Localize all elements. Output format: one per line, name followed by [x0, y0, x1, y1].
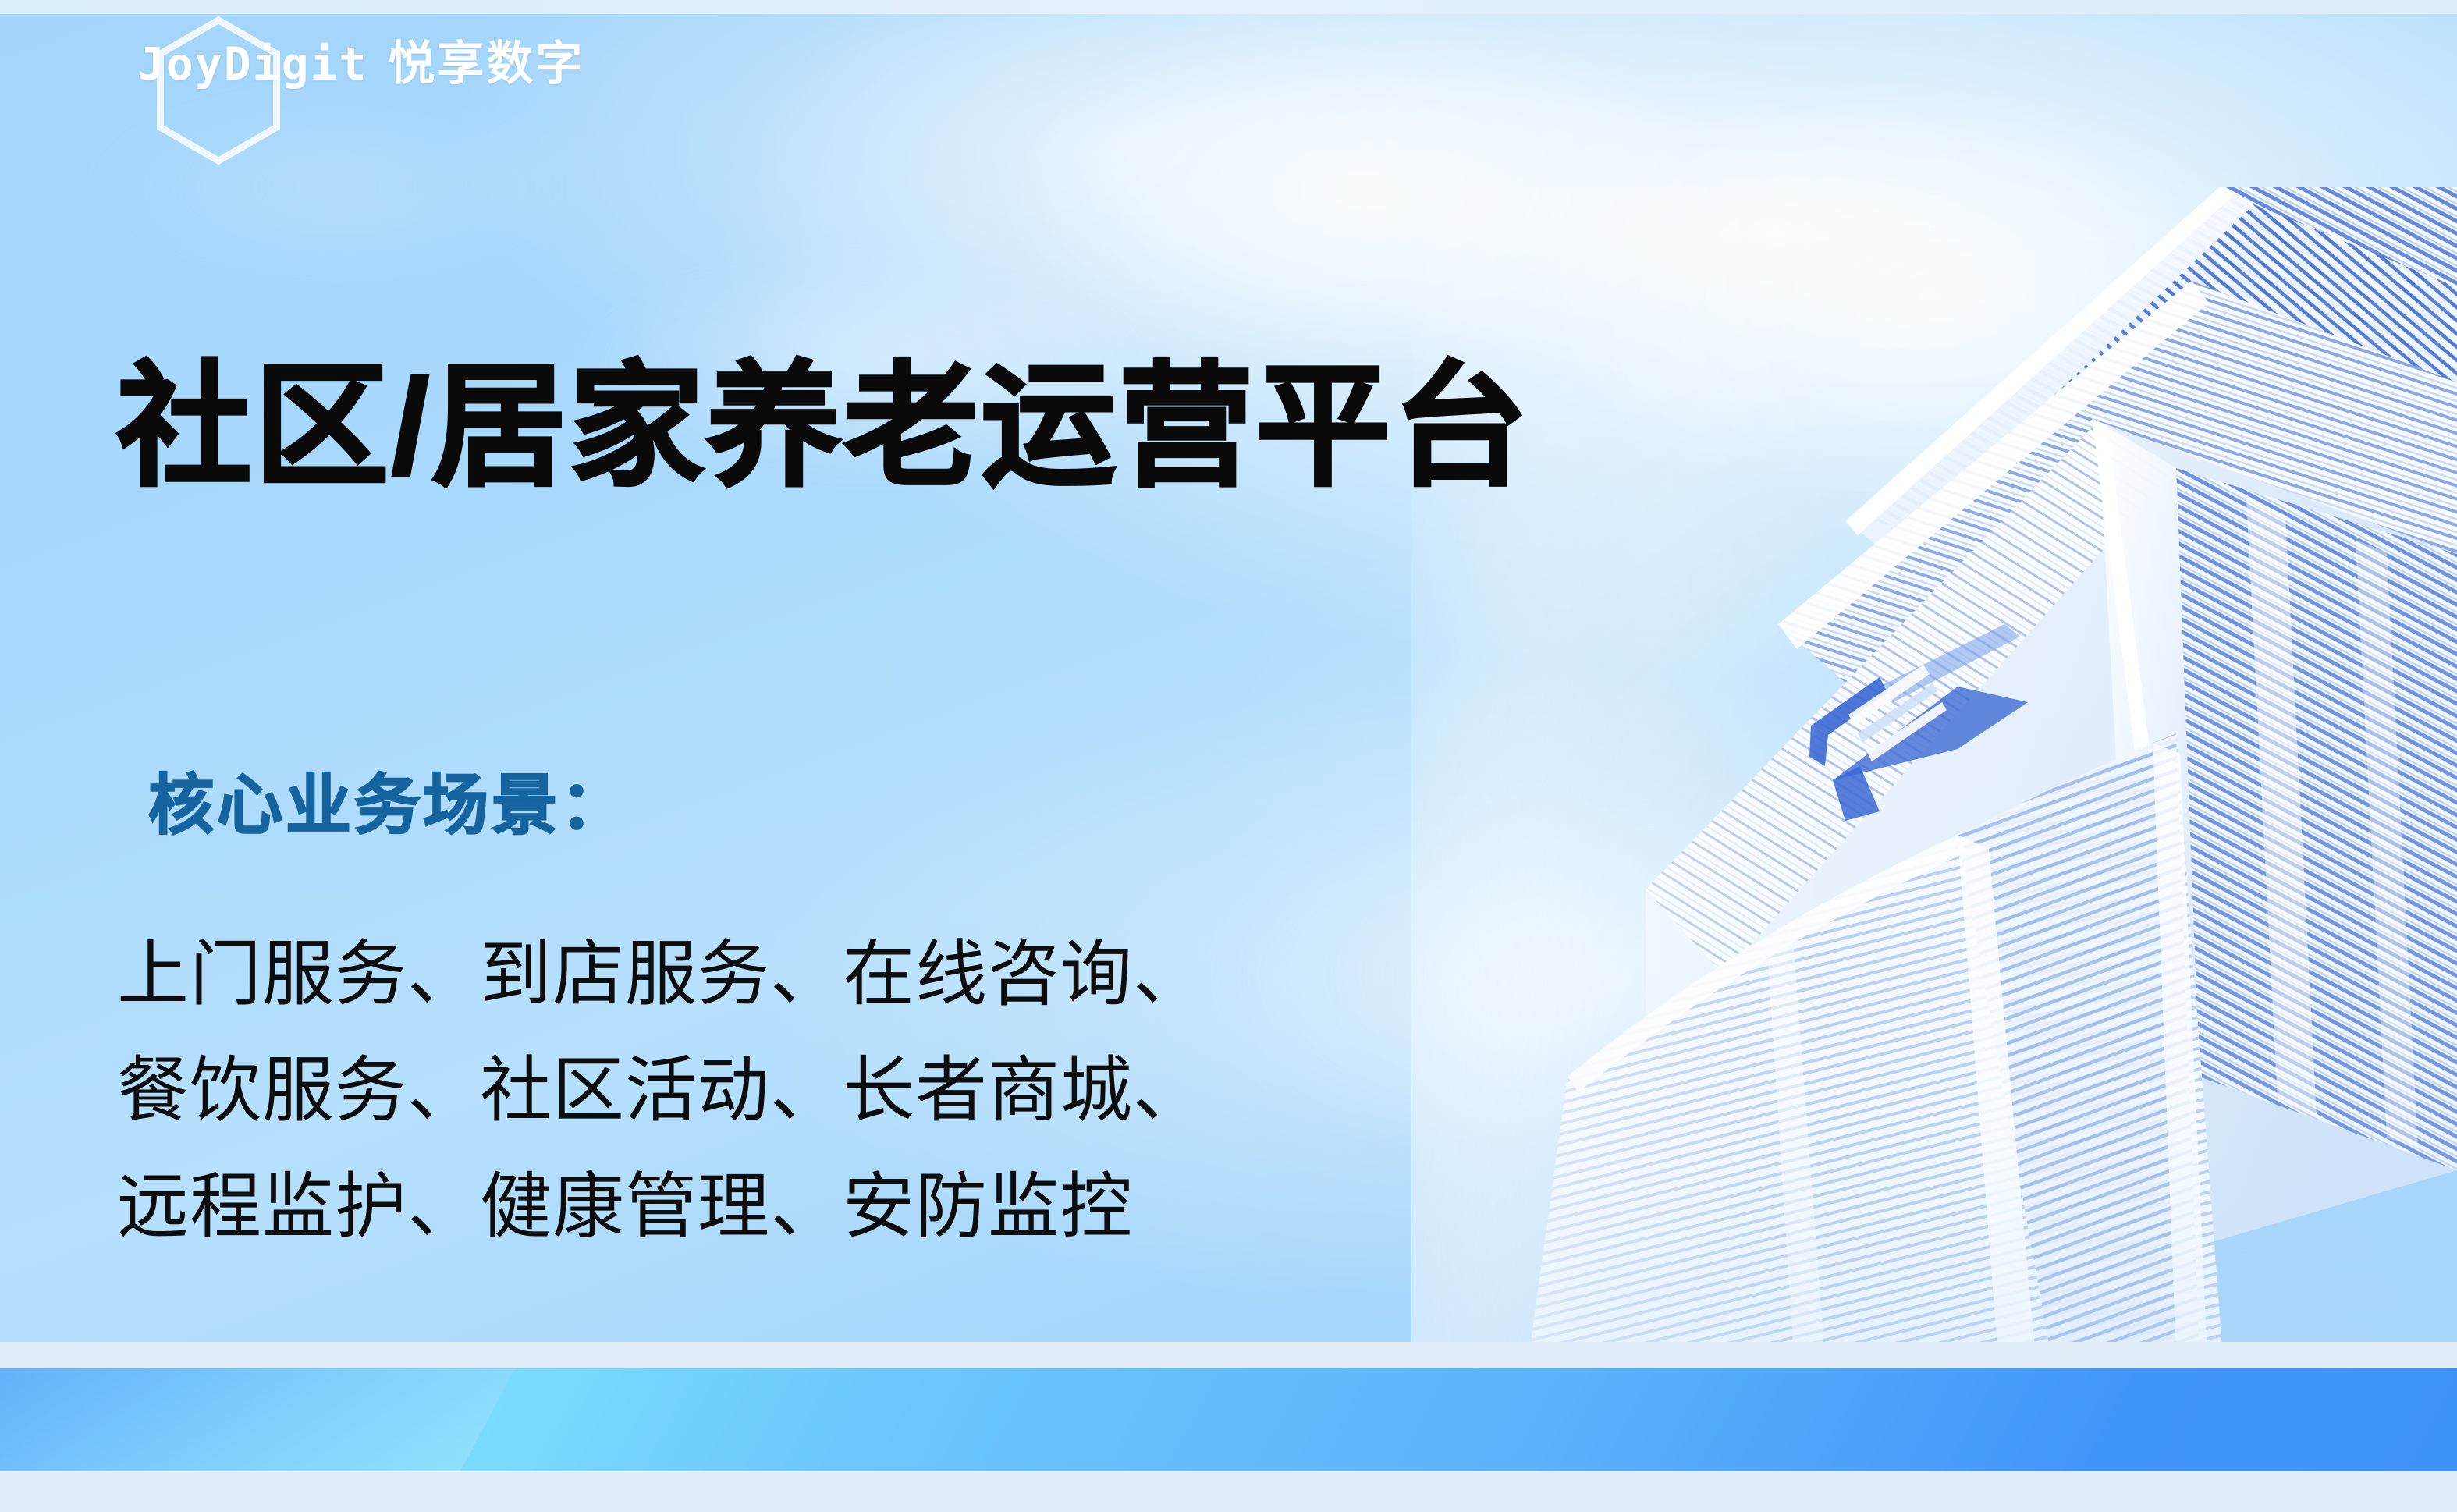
brand-logo-cn: 悦享数字 [388, 41, 584, 87]
bottom-decorative-band [0, 1342, 2457, 1512]
band-shape-main [367, 1368, 2457, 1471]
skyscraper-photo [1411, 187, 2457, 1358]
core-scenarios-heading: 核心业务场景： [148, 772, 629, 838]
scenario-line: 远程监护、健康管理、安防监控 [117, 1149, 1205, 1265]
top-edge-strip [0, 0, 2457, 14]
band-shape-left [0, 1368, 515, 1471]
scenario-line: 餐饮服务、社区活动、长者商城、 [117, 1033, 1205, 1149]
core-scenarios-list: 上门服务、到店服务、在线咨询、 餐饮服务、社区活动、长者商城、 远程监护、健康管… [117, 917, 1205, 1265]
brand-logo[interactable]: JoyDigit 悦享数字 [137, 41, 584, 87]
slide-canvas: JoyDigit 悦享数字 社区/居家养老运营平台 核心业务场景： 上门服务、到… [0, 0, 2457, 1512]
scenario-line: 上门服务、到店服务、在线咨询、 [117, 917, 1205, 1033]
brand-logo-latin: JoyDigit [137, 41, 367, 87]
page-title: 社区/居家养老运营平台 [117, 355, 1531, 500]
